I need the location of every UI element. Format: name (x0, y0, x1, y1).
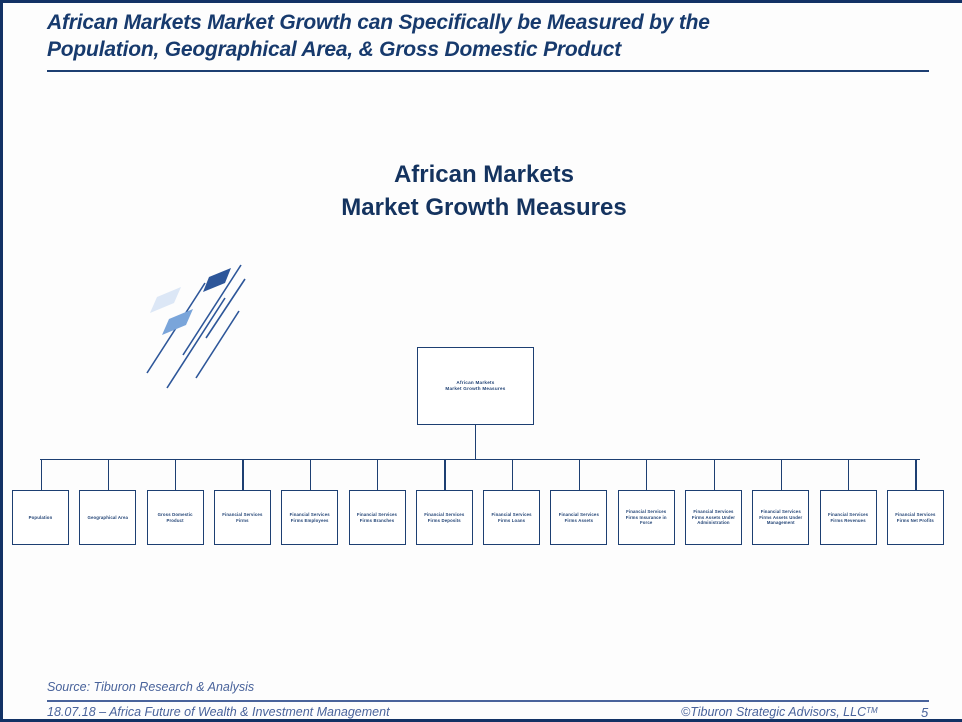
org-leaf-label-line-1: Gross Domestic (158, 512, 193, 518)
org-leaf-label-line-2: Firms Assets (559, 518, 599, 524)
slide-title-line-2: Population, Geographical Area, & Gross D… (47, 36, 931, 63)
org-chart: African Markets Market Growth Measures P… (3, 343, 962, 553)
title-underline (47, 70, 929, 72)
org-leaf-label-line-2: Firms Assets Under Management (755, 515, 806, 527)
org-leaf-node: Financial ServicesFirms (214, 490, 271, 545)
org-root-node: African Markets Market Growth Measures (417, 347, 534, 425)
org-leaf-node: Gross DomesticProduct (147, 490, 204, 545)
org-leaf-label-line-2: Firms Insurance in Force (621, 515, 672, 527)
slide-title-line-1: African Markets Market Growth can Specif… (47, 9, 931, 36)
org-leaf-node: Financial ServicesFirms Employees (281, 490, 338, 545)
footer-copyright-text: ©Tiburon Strategic Advisors, LLC (681, 705, 866, 719)
org-leaf-label-line-2: Firms (222, 518, 262, 524)
org-drop-connector (714, 460, 715, 490)
chart-heading-line-1: African Markets (3, 158, 962, 191)
org-drop-connector (108, 460, 109, 490)
org-leaf-node: Population (12, 490, 69, 545)
org-drop-connector (781, 460, 782, 490)
org-leaf-label-line-1: Financial Services (491, 512, 531, 518)
org-leaf-label-line-2: Product (158, 518, 193, 524)
org-leaf-node: Financial ServicesFirms Assets Under Man… (752, 490, 809, 545)
org-leaf-label-line-1: Financial Services (222, 512, 262, 518)
org-leaf-label-line-2: Firms Deposits (424, 518, 464, 524)
org-leaf-label-line-2: Firms Branches (357, 518, 397, 524)
org-leaf-label-line-1: Financial Services (895, 512, 935, 518)
org-leaf-label-line-1: Population (29, 515, 53, 521)
org-drop-connector (512, 460, 513, 490)
org-leaf-label-line-1: Financial Services (688, 509, 739, 515)
org-leaf-label-line-2: Firms Net Profits (895, 518, 935, 524)
page-number: 5 (921, 705, 928, 720)
org-leaf-node: Financial ServicesFirms Branches (349, 490, 406, 545)
org-leaf-label-line-2: Firms Assets Under Administration (688, 515, 739, 527)
org-leaf-node: Financial ServicesFirms Assets Under Adm… (685, 490, 742, 545)
org-drop-connector (310, 460, 311, 490)
org-leaf-node: Financial ServicesFirms Deposits (416, 490, 473, 545)
org-drop-connector (848, 460, 849, 490)
org-leaf-label-line-1: Financial Services (290, 512, 330, 518)
org-drop-connector (175, 460, 176, 490)
org-leaf-node: Financial ServicesFirms Insurance in For… (618, 490, 675, 545)
org-drop-connector (377, 460, 378, 490)
logo-parallelogram-light (150, 287, 181, 313)
footer-trademark-mark: TM (866, 706, 878, 715)
org-leaf-node: Financial ServicesFirms Net Profits (887, 490, 944, 545)
source-label: Source: Tiburon Research & Analysis (47, 680, 254, 694)
org-drop-connector (444, 460, 445, 490)
slide-footer: 18.07.18 – Africa Future of Wealth & Inv… (3, 705, 962, 722)
org-bus-connector (40, 459, 920, 460)
presentation-slide: African Markets Market Growth can Specif… (0, 0, 962, 722)
slide-title: African Markets Market Growth can Specif… (47, 9, 931, 63)
org-leaf-node: Financial ServicesFirms Assets (550, 490, 607, 545)
org-leaf-label-line-2: Firms Employees (290, 518, 330, 524)
org-leaf-label-line-2: Firms Revenues (828, 518, 868, 524)
org-leaf-node: Geographical Area (79, 490, 136, 545)
org-leaf-label-line-2: Firms Loans (491, 518, 531, 524)
org-root-label-line-2: Market Growth Measures (445, 386, 505, 392)
chart-heading-line-2: Market Growth Measures (3, 191, 962, 224)
org-drop-connector (915, 460, 916, 490)
logo-parallelogram-mid (162, 309, 193, 335)
footer-divider (47, 700, 929, 702)
org-drop-connector (242, 460, 243, 490)
org-leaf-node: Financial ServicesFirms Revenues (820, 490, 877, 545)
org-leaf-label-line-1: Financial Services (357, 512, 397, 518)
org-leaf-label-line-1: Financial Services (559, 512, 599, 518)
org-trunk-connector (475, 425, 476, 460)
footer-right-text: ©Tiburon Strategic Advisors, LLCTM (681, 705, 878, 719)
org-leaf-label-line-1: Financial Services (621, 509, 672, 515)
org-drop-connector (41, 460, 42, 490)
org-leaf-label-line-1: Financial Services (755, 509, 806, 515)
footer-left-text: 18.07.18 – Africa Future of Wealth & Inv… (47, 705, 390, 719)
chart-heading: African Markets Market Growth Measures (3, 158, 962, 224)
org-drop-connector (646, 460, 647, 490)
org-leaf-node: Financial ServicesFirms Loans (483, 490, 540, 545)
org-leaf-label-line-1: Financial Services (424, 512, 464, 518)
org-leaf-label-line-1: Geographical Area (87, 515, 128, 521)
org-leaf-label-line-1: Financial Services (828, 512, 868, 518)
org-drop-connector (579, 460, 580, 490)
